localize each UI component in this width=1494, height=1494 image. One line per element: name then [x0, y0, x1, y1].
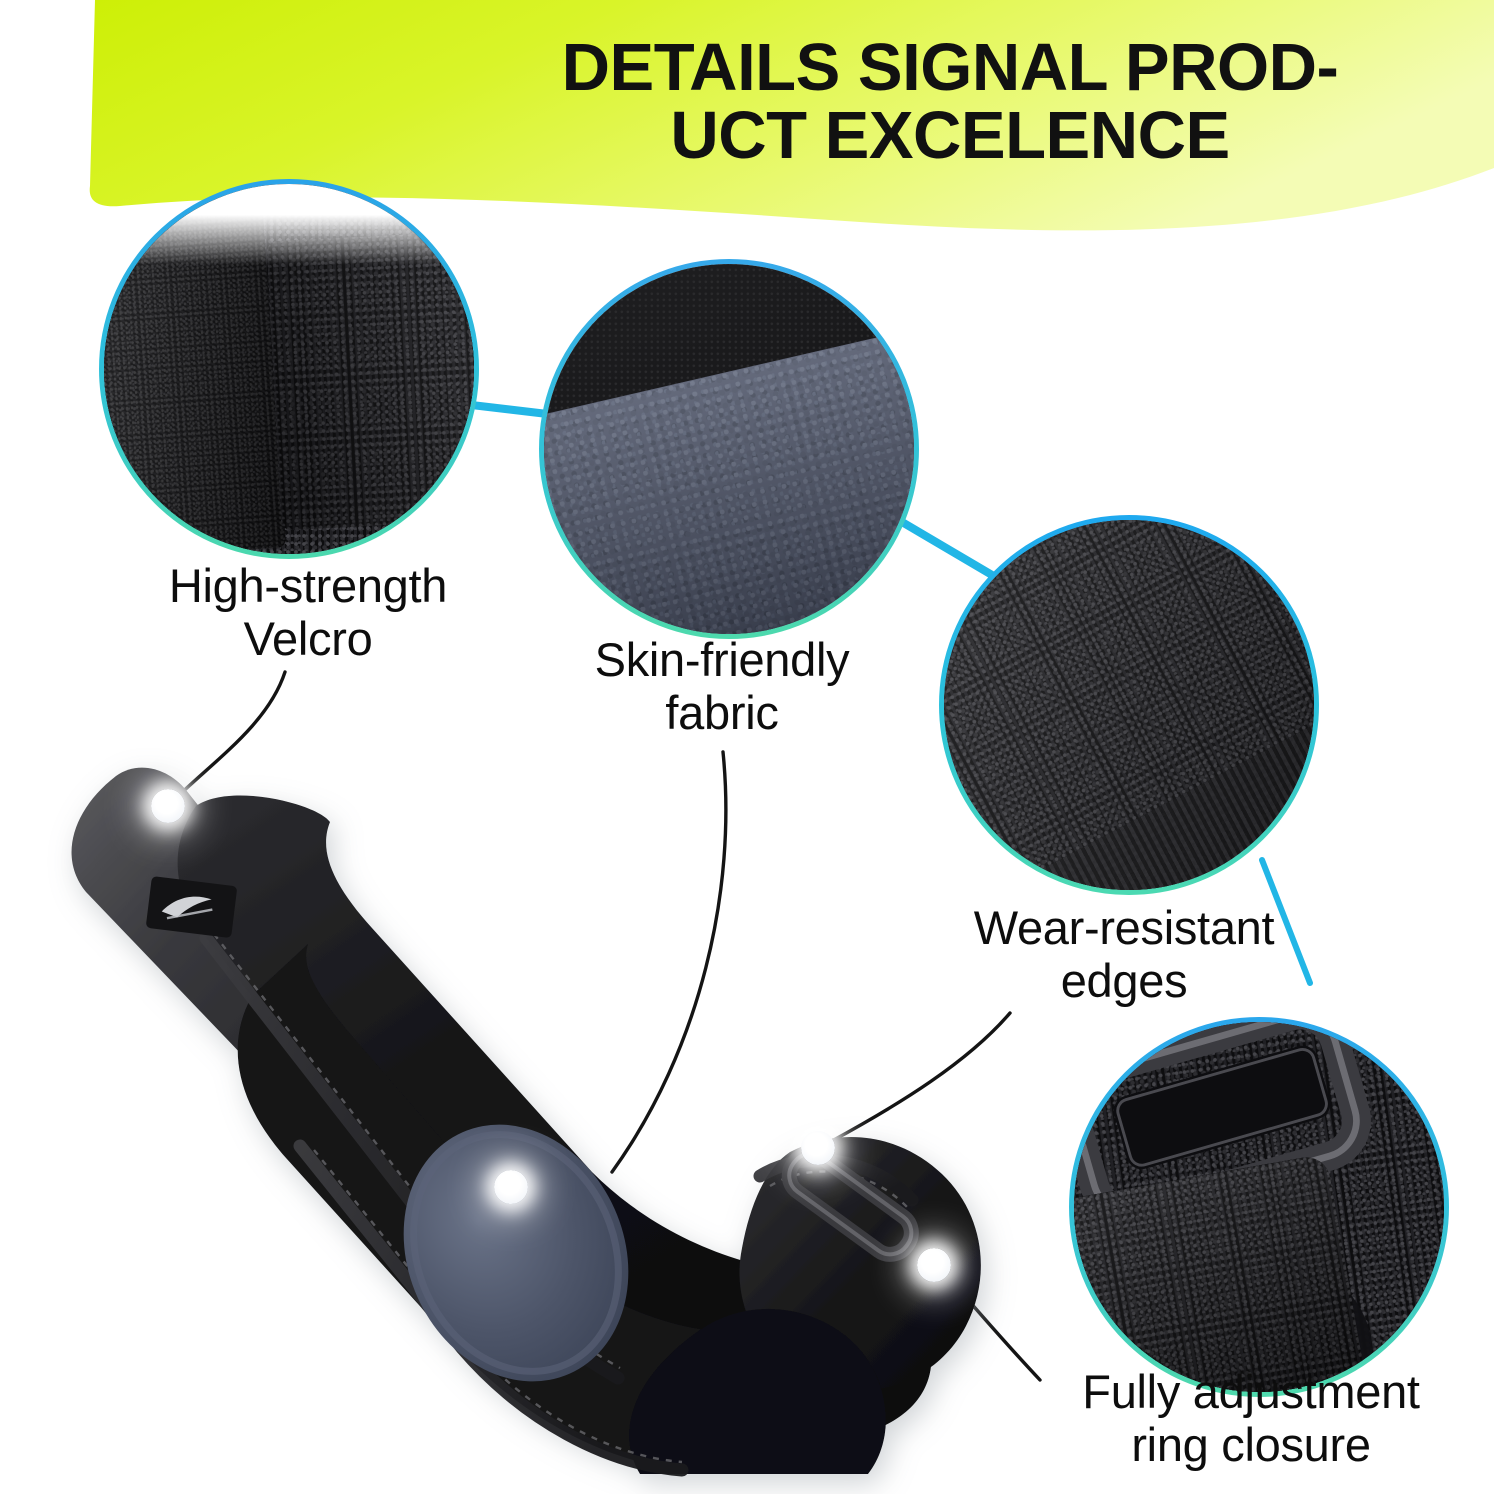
- callout-label-wear-resistant-edges: Wear-resistant edges: [900, 902, 1348, 1007]
- hotspot-velcro[interactable]: [151, 789, 185, 823]
- edge-binding-texture: [944, 520, 1314, 890]
- product-upper-flap: [72, 768, 356, 1082]
- product-stitching: [214, 934, 908, 1462]
- hotspot-edge[interactable]: [801, 1131, 835, 1165]
- leader-line-ring: [944, 1272, 1040, 1380]
- leader-line-fabric: [612, 752, 726, 1172]
- callout-label-fully-adjustment-ring-closure: Fully adjustment ring closure: [1014, 1366, 1488, 1471]
- leader-line-edges: [830, 1013, 1010, 1142]
- callout-wear-resistant-edges[interactable]: [938, 514, 1320, 896]
- product-edge-binding: [206, 938, 912, 1470]
- page-title: DETAILS SIGNAL PROD- UCT EXCELENCE: [430, 34, 1470, 171]
- product-tail-lower: [629, 1309, 886, 1474]
- product-center-panel: [238, 944, 789, 1471]
- compression-pad: [364, 1088, 669, 1417]
- buckle-velcro-pad: [1074, 1154, 1366, 1392]
- callout-image-4: [1074, 1022, 1444, 1392]
- callout-fully-adjustment-ring-closure[interactable]: [1068, 1016, 1450, 1398]
- callout-image-1: [104, 184, 474, 554]
- callout-high-strength-velcro[interactable]: [98, 178, 480, 560]
- callout-image-3: [944, 520, 1314, 890]
- product-main-body: [178, 795, 932, 1440]
- callout-image-2: [544, 264, 914, 634]
- leader-line-velcro: [174, 672, 285, 800]
- infographic-canvas: DETAILS SIGNAL PROD- UCT EXCELENCE: [0, 0, 1494, 1494]
- callout-label-skin-friendly-fabric: Skin-friendly fabric: [518, 634, 926, 739]
- velcro-loop-strip: [267, 230, 474, 529]
- brand-tag: [146, 876, 238, 938]
- hotspot-ring[interactable]: [917, 1248, 951, 1282]
- callout-label-high-strength-velcro: High-strength Velcro: [88, 560, 528, 665]
- d-ring-buckle: [781, 1146, 919, 1262]
- callout-skin-friendly-fabric[interactable]: [538, 258, 920, 640]
- hotspot-fabric-pad[interactable]: [494, 1170, 528, 1204]
